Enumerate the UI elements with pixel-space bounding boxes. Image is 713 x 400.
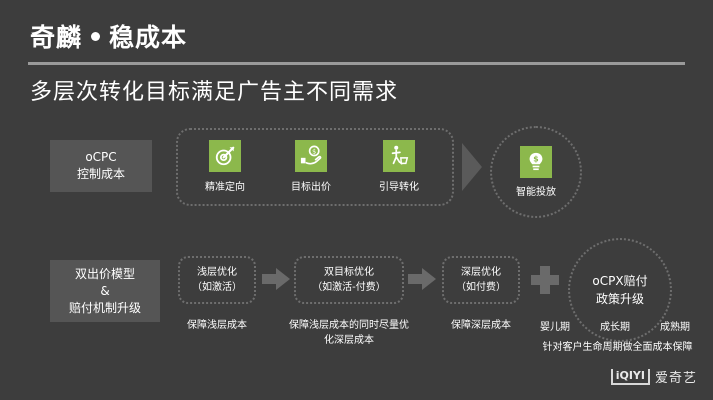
ocpx-line1: oCPX赔付	[592, 272, 647, 290]
lifecycle-stage-mature: 成熟期	[660, 318, 690, 333]
arrow-right-icon-2	[408, 268, 436, 290]
target-dart-icon	[209, 140, 241, 172]
lifecycle-stage-growth: 成长期	[600, 318, 630, 333]
dual-bid-line1: 双出价模型	[75, 266, 135, 283]
svg-text:$: $	[533, 155, 538, 164]
stage-dual-detail: （如激活-付费）	[312, 280, 386, 295]
caption-dual: 保障浅层成本的同时尽量优化深层成本	[288, 318, 410, 348]
ocpc-label-box: oCPC 控制成本	[50, 140, 152, 192]
smart-delivery-label: 智能投放	[516, 183, 556, 198]
stage-deep-title: 深层优化	[461, 265, 501, 280]
stage-dual-title: 双目标优化	[324, 265, 374, 280]
feature-label-conversion: 引导转化	[379, 178, 419, 193]
iqiyi-logo-mark: iQIYI	[611, 369, 650, 385]
stage-shallow-detail: （如激活）	[192, 280, 242, 295]
feature-label-bidding: 目标出价	[291, 178, 331, 193]
title-right-text: 稳成本	[109, 18, 187, 54]
arrow-right-icon-1	[262, 268, 290, 290]
lifecycle-note: 针对客户生命周期做全面成本保障	[525, 338, 710, 353]
ocpc-label-line1: oCPC	[85, 149, 116, 166]
page-subtitle: 多层次转化目标满足广告主不同需求	[30, 74, 398, 106]
plus-icon	[531, 266, 559, 294]
caption-shallow: 保障浅层成本	[178, 318, 256, 333]
page-title: 奇麟 稳成本	[30, 18, 187, 54]
person-conversion-icon	[383, 140, 415, 172]
ocpc-label-line2: 控制成本	[77, 166, 125, 183]
dual-bid-label-box: 双出价模型 & 赔付机制升级	[50, 260, 160, 322]
iqiyi-logo-text: 爱奇艺	[655, 367, 697, 386]
ocpc-features-panel: 精准定向 $ 目标出价 引导转	[176, 128, 454, 206]
hand-coin-icon: $	[295, 140, 327, 172]
smart-delivery-result: $ 智能投放	[490, 126, 582, 218]
title-left-text: 奇麟	[30, 18, 82, 54]
stage-dual-target: 双目标优化 （如激活-付费）	[294, 256, 404, 304]
chevron-right-icon	[462, 143, 482, 191]
stage-deep-detail: （如付费）	[456, 280, 506, 295]
lifecycle-stages: 婴儿期 成长期 成熟期	[525, 318, 705, 333]
feature-item-targeting: 精准定向	[190, 140, 260, 193]
header-divider	[28, 62, 685, 65]
dual-bid-line3: 赔付机制升级	[69, 300, 141, 317]
slide-root: 奇麟 稳成本 多层次转化目标满足广告主不同需求 oCPC 控制成本 精准定向	[0, 0, 713, 400]
stage-shallow-title: 浅层优化	[197, 265, 237, 280]
ocpx-line2: 政策升级	[596, 290, 644, 308]
stage-deep: 深层优化 （如付费）	[442, 256, 520, 304]
lightbulb-money-icon: $	[520, 146, 552, 178]
dual-bid-line2: &	[100, 283, 109, 300]
caption-deep: 保障深层成本	[442, 318, 520, 333]
iqiyi-logo: iQIYI 爱奇艺	[611, 367, 697, 386]
title-bullet-icon	[91, 32, 100, 41]
feature-item-conversion: 引导转化	[364, 140, 434, 193]
lifecycle-stage-infant: 婴儿期	[540, 318, 570, 333]
feature-item-bidding: $ 目标出价	[276, 140, 346, 193]
svg-text:$: $	[312, 148, 316, 156]
feature-label-targeting: 精准定向	[205, 178, 245, 193]
stage-shallow: 浅层优化 （如激活）	[178, 256, 256, 304]
